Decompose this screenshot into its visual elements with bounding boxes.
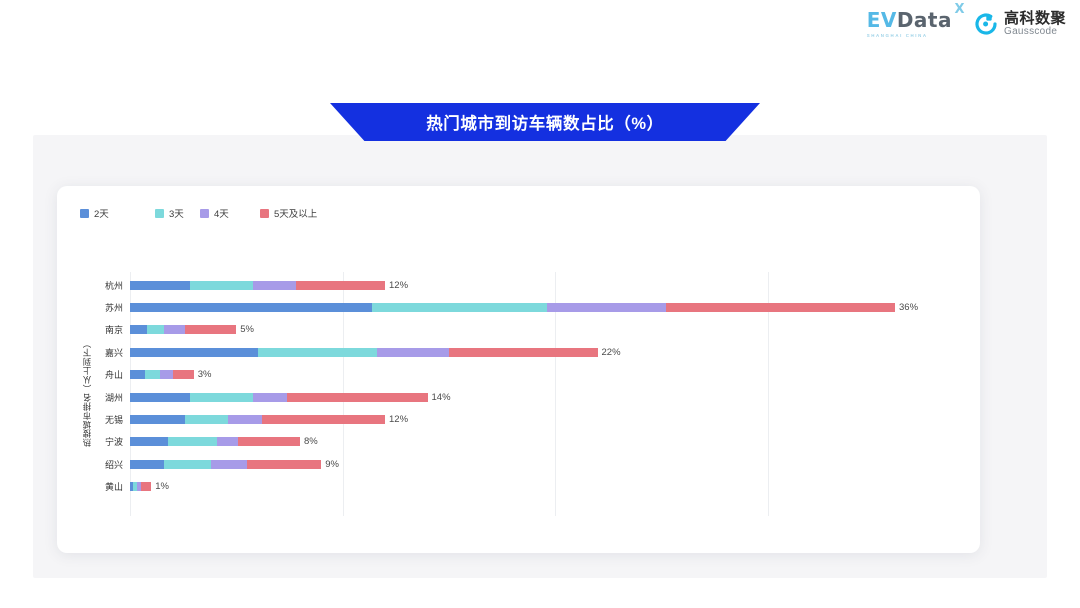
bar-segment-4天[interactable] xyxy=(253,393,287,402)
chart-legend: 2天3天4天5天及以上 xyxy=(80,206,380,220)
bar-value-label: 14% xyxy=(432,393,451,402)
bar-segment-5天及以上[interactable] xyxy=(173,370,194,379)
legend-label: 4天 xyxy=(214,206,229,220)
legend-swatch-icon xyxy=(200,209,209,218)
legend-item-0[interactable]: 2天 xyxy=(80,206,155,220)
bar-value-label: 5% xyxy=(240,325,254,334)
bar-segment-2天[interactable] xyxy=(130,415,185,424)
chart-row: 无锡12% xyxy=(101,408,980,430)
bar-segment-2天[interactable] xyxy=(130,437,168,446)
y-axis-label-绍兴: 绍兴 xyxy=(101,458,130,471)
bar-segment-2天[interactable] xyxy=(130,393,190,402)
bar-segment-4天[interactable] xyxy=(377,348,449,357)
legend-item-1[interactable]: 3天 xyxy=(155,206,200,220)
stacked-bar[interactable]: 3% xyxy=(130,370,211,379)
legend-item-3[interactable]: 5天及以上 xyxy=(260,206,370,220)
y-axis-label-无锡: 无锡 xyxy=(101,413,130,426)
y-axis-label-苏州: 苏州 xyxy=(101,301,130,314)
bar-segment-3天[interactable] xyxy=(168,437,217,446)
stacked-bar[interactable]: 22% xyxy=(130,348,621,357)
chart-title-banner: 热门城市到访车辆数占比（%） xyxy=(330,103,760,141)
bar-segment-4天[interactable] xyxy=(164,325,185,334)
bar-segment-5天及以上[interactable] xyxy=(666,303,896,312)
bar-segment-2天[interactable] xyxy=(130,303,372,312)
bar-segment-2天[interactable] xyxy=(130,281,190,290)
y-axis-label-宁波: 宁波 xyxy=(101,435,130,448)
legend-item-2[interactable]: 4天 xyxy=(200,206,260,220)
chart-row: 舟山3% xyxy=(101,364,980,386)
bar-segment-5天及以上[interactable] xyxy=(287,393,427,402)
chart-row: 湖州14% xyxy=(101,386,980,408)
legend-swatch-icon xyxy=(80,209,89,218)
bar-segment-4天[interactable] xyxy=(253,281,296,290)
gausscode-logo-text: 高科数聚 Gausscode xyxy=(1004,11,1066,37)
bar-segment-3天[interactable] xyxy=(164,460,211,469)
bar-segment-3天[interactable] xyxy=(185,415,228,424)
bar-segment-4天[interactable] xyxy=(228,415,262,424)
gausscode-logo: 高科数聚 Gausscode xyxy=(974,11,1066,37)
bar-segment-5天及以上[interactable] xyxy=(296,281,385,290)
evdata-logo-data: Data xyxy=(897,8,952,32)
y-axis-label-嘉兴: 嘉兴 xyxy=(101,346,130,359)
evdata-logo-tagline: SHANGHAI CHINA xyxy=(867,33,928,38)
bar-segment-5天及以上[interactable] xyxy=(247,460,321,469)
bar-segment-4天[interactable] xyxy=(217,437,238,446)
bar-segment-3天[interactable] xyxy=(147,325,164,334)
y-axis-label-杭州: 杭州 xyxy=(101,279,130,292)
legend-swatch-icon xyxy=(155,209,164,218)
bar-value-label: 3% xyxy=(198,370,212,379)
bar-value-label: 12% xyxy=(389,281,408,290)
chart-row: 黄山1% xyxy=(101,476,980,498)
bar-value-label: 8% xyxy=(304,437,318,446)
bar-segment-2天[interactable] xyxy=(130,348,258,357)
bar-segment-5天及以上[interactable] xyxy=(262,415,385,424)
gausscode-mark-icon xyxy=(974,12,998,36)
bar-segment-5天及以上[interactable] xyxy=(185,325,236,334)
chart-row: 嘉兴22% xyxy=(101,341,980,363)
y-axis-label-湖州: 湖州 xyxy=(101,391,130,404)
evdata-logo: EVDataX SHANGHAI CHINA xyxy=(867,10,952,38)
bar-value-label: 12% xyxy=(389,415,408,424)
chart-row: 宁波8% xyxy=(101,431,980,453)
chart-row: 苏州36% xyxy=(101,296,980,318)
bar-value-label: 36% xyxy=(899,303,918,312)
legend-label: 2天 xyxy=(94,206,109,220)
bar-segment-2天[interactable] xyxy=(130,460,164,469)
bar-segment-5天及以上[interactable] xyxy=(449,348,598,357)
chart-plot: 杭州12%苏州36%南京5%嘉兴22%舟山3%湖州14%无锡12%宁波8%绍兴9… xyxy=(101,268,980,518)
chart-row: 绍兴9% xyxy=(101,453,980,475)
stacked-bar[interactable]: 12% xyxy=(130,281,408,290)
slide-page: EVDataX SHANGHAI CHINA 高科数聚 Gausscode 热门… xyxy=(0,0,1080,608)
stacked-bar[interactable]: 5% xyxy=(130,325,254,334)
stacked-bar[interactable]: 8% xyxy=(130,437,318,446)
bar-segment-4天[interactable] xyxy=(160,370,173,379)
chart-row: 杭州12% xyxy=(101,274,980,296)
bar-segment-3天[interactable] xyxy=(145,370,160,379)
bar-segment-4天[interactable] xyxy=(547,303,666,312)
stacked-bar[interactable]: 9% xyxy=(130,460,339,469)
stacked-bar[interactable]: 36% xyxy=(130,303,918,312)
y-axis-label-舟山: 舟山 xyxy=(101,368,130,381)
bar-value-label: 22% xyxy=(602,348,621,357)
bar-segment-5天及以上[interactable] xyxy=(141,482,152,491)
chart-row: 南京5% xyxy=(101,319,980,341)
stacked-bar[interactable]: 1% xyxy=(130,482,169,491)
evdata-logo-ev: EV xyxy=(867,8,897,32)
stacked-bar[interactable]: 14% xyxy=(130,393,451,402)
evdata-logo-superscript-icon: X xyxy=(954,3,965,16)
chart-card: 2天3天4天5天及以上 热搜城市排名（从上到下） 杭州12%苏州36%南京5%嘉… xyxy=(57,186,980,553)
stacked-bar[interactable]: 12% xyxy=(130,415,408,424)
legend-label: 3天 xyxy=(169,206,184,220)
legend-label: 5天及以上 xyxy=(274,206,317,220)
bar-value-label: 1% xyxy=(155,482,169,491)
bar-segment-2天[interactable] xyxy=(130,370,145,379)
bar-segment-3天[interactable] xyxy=(372,303,546,312)
y-axis-label-黄山: 黄山 xyxy=(101,480,130,493)
header-logos: EVDataX SHANGHAI CHINA 高科数聚 Gausscode xyxy=(867,10,1066,38)
evdata-logo-wordmark: EVDataX xyxy=(867,10,952,30)
bar-segment-2天[interactable] xyxy=(130,325,147,334)
bar-segment-3天[interactable] xyxy=(258,348,377,357)
bar-segment-3天[interactable] xyxy=(190,281,254,290)
gausscode-logo-en: Gausscode xyxy=(1004,27,1066,38)
bar-segment-5天及以上[interactable] xyxy=(238,437,300,446)
y-axis-title: 热搜城市排名（从上到下） xyxy=(79,318,95,468)
gausscode-logo-cn: 高科数聚 xyxy=(1004,11,1066,27)
chart-bar-rows: 杭州12%苏州36%南京5%嘉兴22%舟山3%湖州14%无锡12%宁波8%绍兴9… xyxy=(101,268,980,518)
bar-segment-4天[interactable] xyxy=(211,460,247,469)
chart-area: 热搜城市排名（从上到下） 杭州12%苏州36%南京5%嘉兴22%舟山3%湖州14… xyxy=(57,268,980,518)
bar-value-label: 9% xyxy=(325,460,339,469)
gridline-40 xyxy=(980,272,981,516)
y-axis-label-南京: 南京 xyxy=(101,323,130,336)
legend-swatch-icon xyxy=(260,209,269,218)
bar-segment-3天[interactable] xyxy=(190,393,254,402)
